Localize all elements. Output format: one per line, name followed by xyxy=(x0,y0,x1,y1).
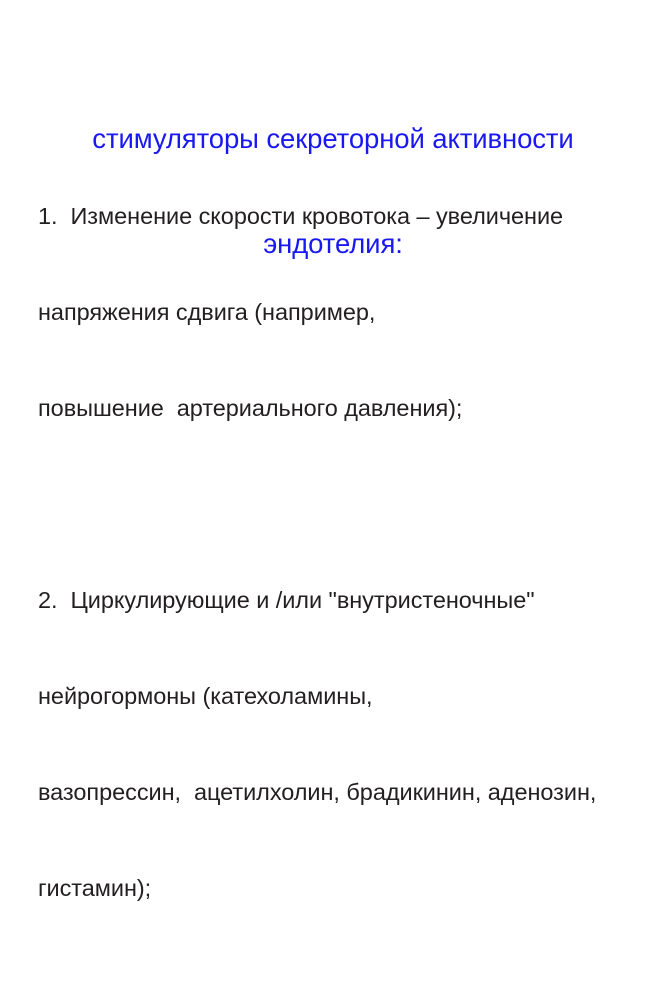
list-item: 2. Циркулирующие и /или "внутристеночные… xyxy=(38,520,638,968)
list-item-line: напряжения сдвига (например, xyxy=(38,296,638,328)
list-item-line: нейрогормоны (катехоламины, xyxy=(38,680,638,712)
list-item-line: гистамин); xyxy=(38,872,638,904)
slide-body: 1. Изменение скорости кровотока – увелич… xyxy=(38,136,638,986)
list-item-line: вазопрессин, ацетилхолин, брадикинин, ад… xyxy=(38,776,638,808)
list-item-line: 1. Изменение скорости кровотока – увелич… xyxy=(38,200,638,232)
list-item: 1. Изменение скорости кровотока – увелич… xyxy=(38,136,638,488)
list-item-line: 2. Циркулирующие и /или "внутристеночные… xyxy=(38,584,638,616)
slide-canvas: стимуляторы секреторной активности эндот… xyxy=(0,0,666,493)
list-item-line: повышение артериального давления); xyxy=(38,392,638,424)
